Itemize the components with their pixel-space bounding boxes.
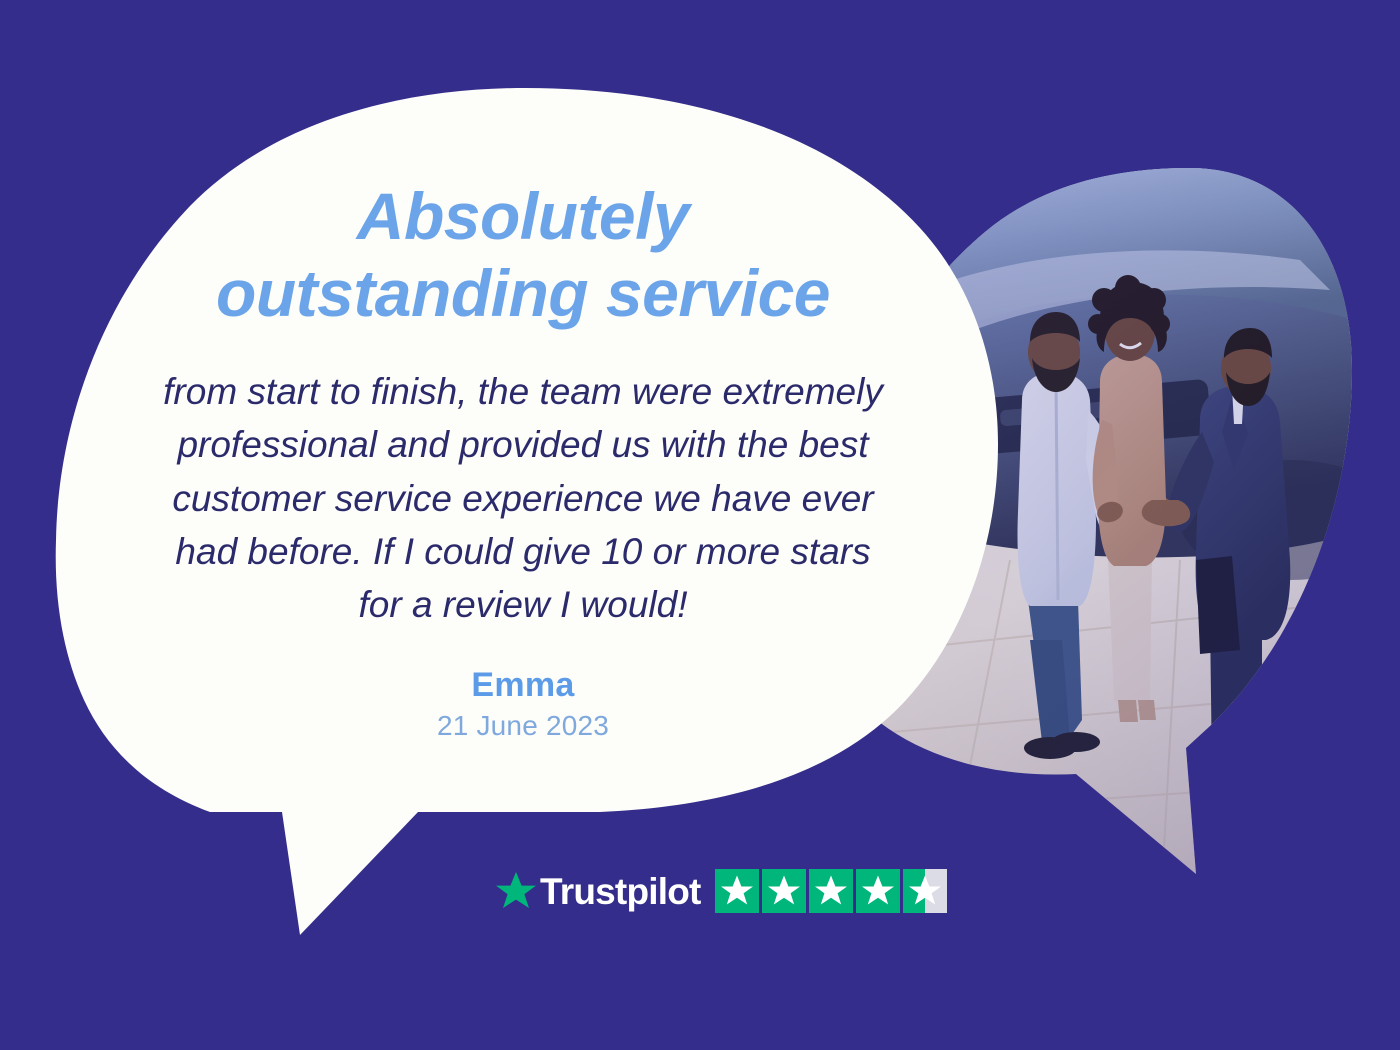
trustpilot-wordmark: Trustpilot [540, 873, 701, 910]
star-5-half [903, 869, 947, 913]
review-headline: Absolutely outstanding service [78, 178, 968, 331]
star-icon [908, 875, 942, 908]
body-line-5: for a review I would! [118, 578, 928, 631]
review-attribution: Emma 21 June 2023 [78, 667, 968, 741]
body-line-4: had before. If I could give 10 or more s… [118, 525, 928, 578]
body-line-1: from start to finish, the team were extr… [118, 365, 928, 418]
headline-line-1: Absolutely [78, 178, 968, 255]
review-body: from start to finish, the team were extr… [78, 365, 968, 631]
trustpilot-rating[interactable]: Trustpilot [494, 869, 947, 913]
star-icon [814, 875, 848, 908]
headline-line-2: outstanding service [78, 255, 968, 332]
star-icon [861, 875, 895, 908]
star-1-full [715, 869, 759, 913]
body-line-2: professional and provided us with the be… [118, 418, 928, 471]
trustpilot-star-rating [715, 869, 947, 913]
testimonial-card: Absolutely outstanding service from star… [0, 0, 1400, 1050]
star-4-full [856, 869, 900, 913]
review-date: 21 June 2023 [78, 711, 968, 742]
star-icon [767, 875, 801, 908]
star-3-full [809, 869, 853, 913]
review-author-name: Emma [78, 667, 968, 704]
body-line-3: customer service experience we have ever [118, 472, 928, 525]
trustpilot-logo[interactable]: Trustpilot [494, 870, 701, 912]
star-icon [720, 875, 754, 908]
star-2-full [762, 869, 806, 913]
review-content: Absolutely outstanding service from star… [78, 178, 968, 742]
trustpilot-star-icon [494, 870, 538, 912]
